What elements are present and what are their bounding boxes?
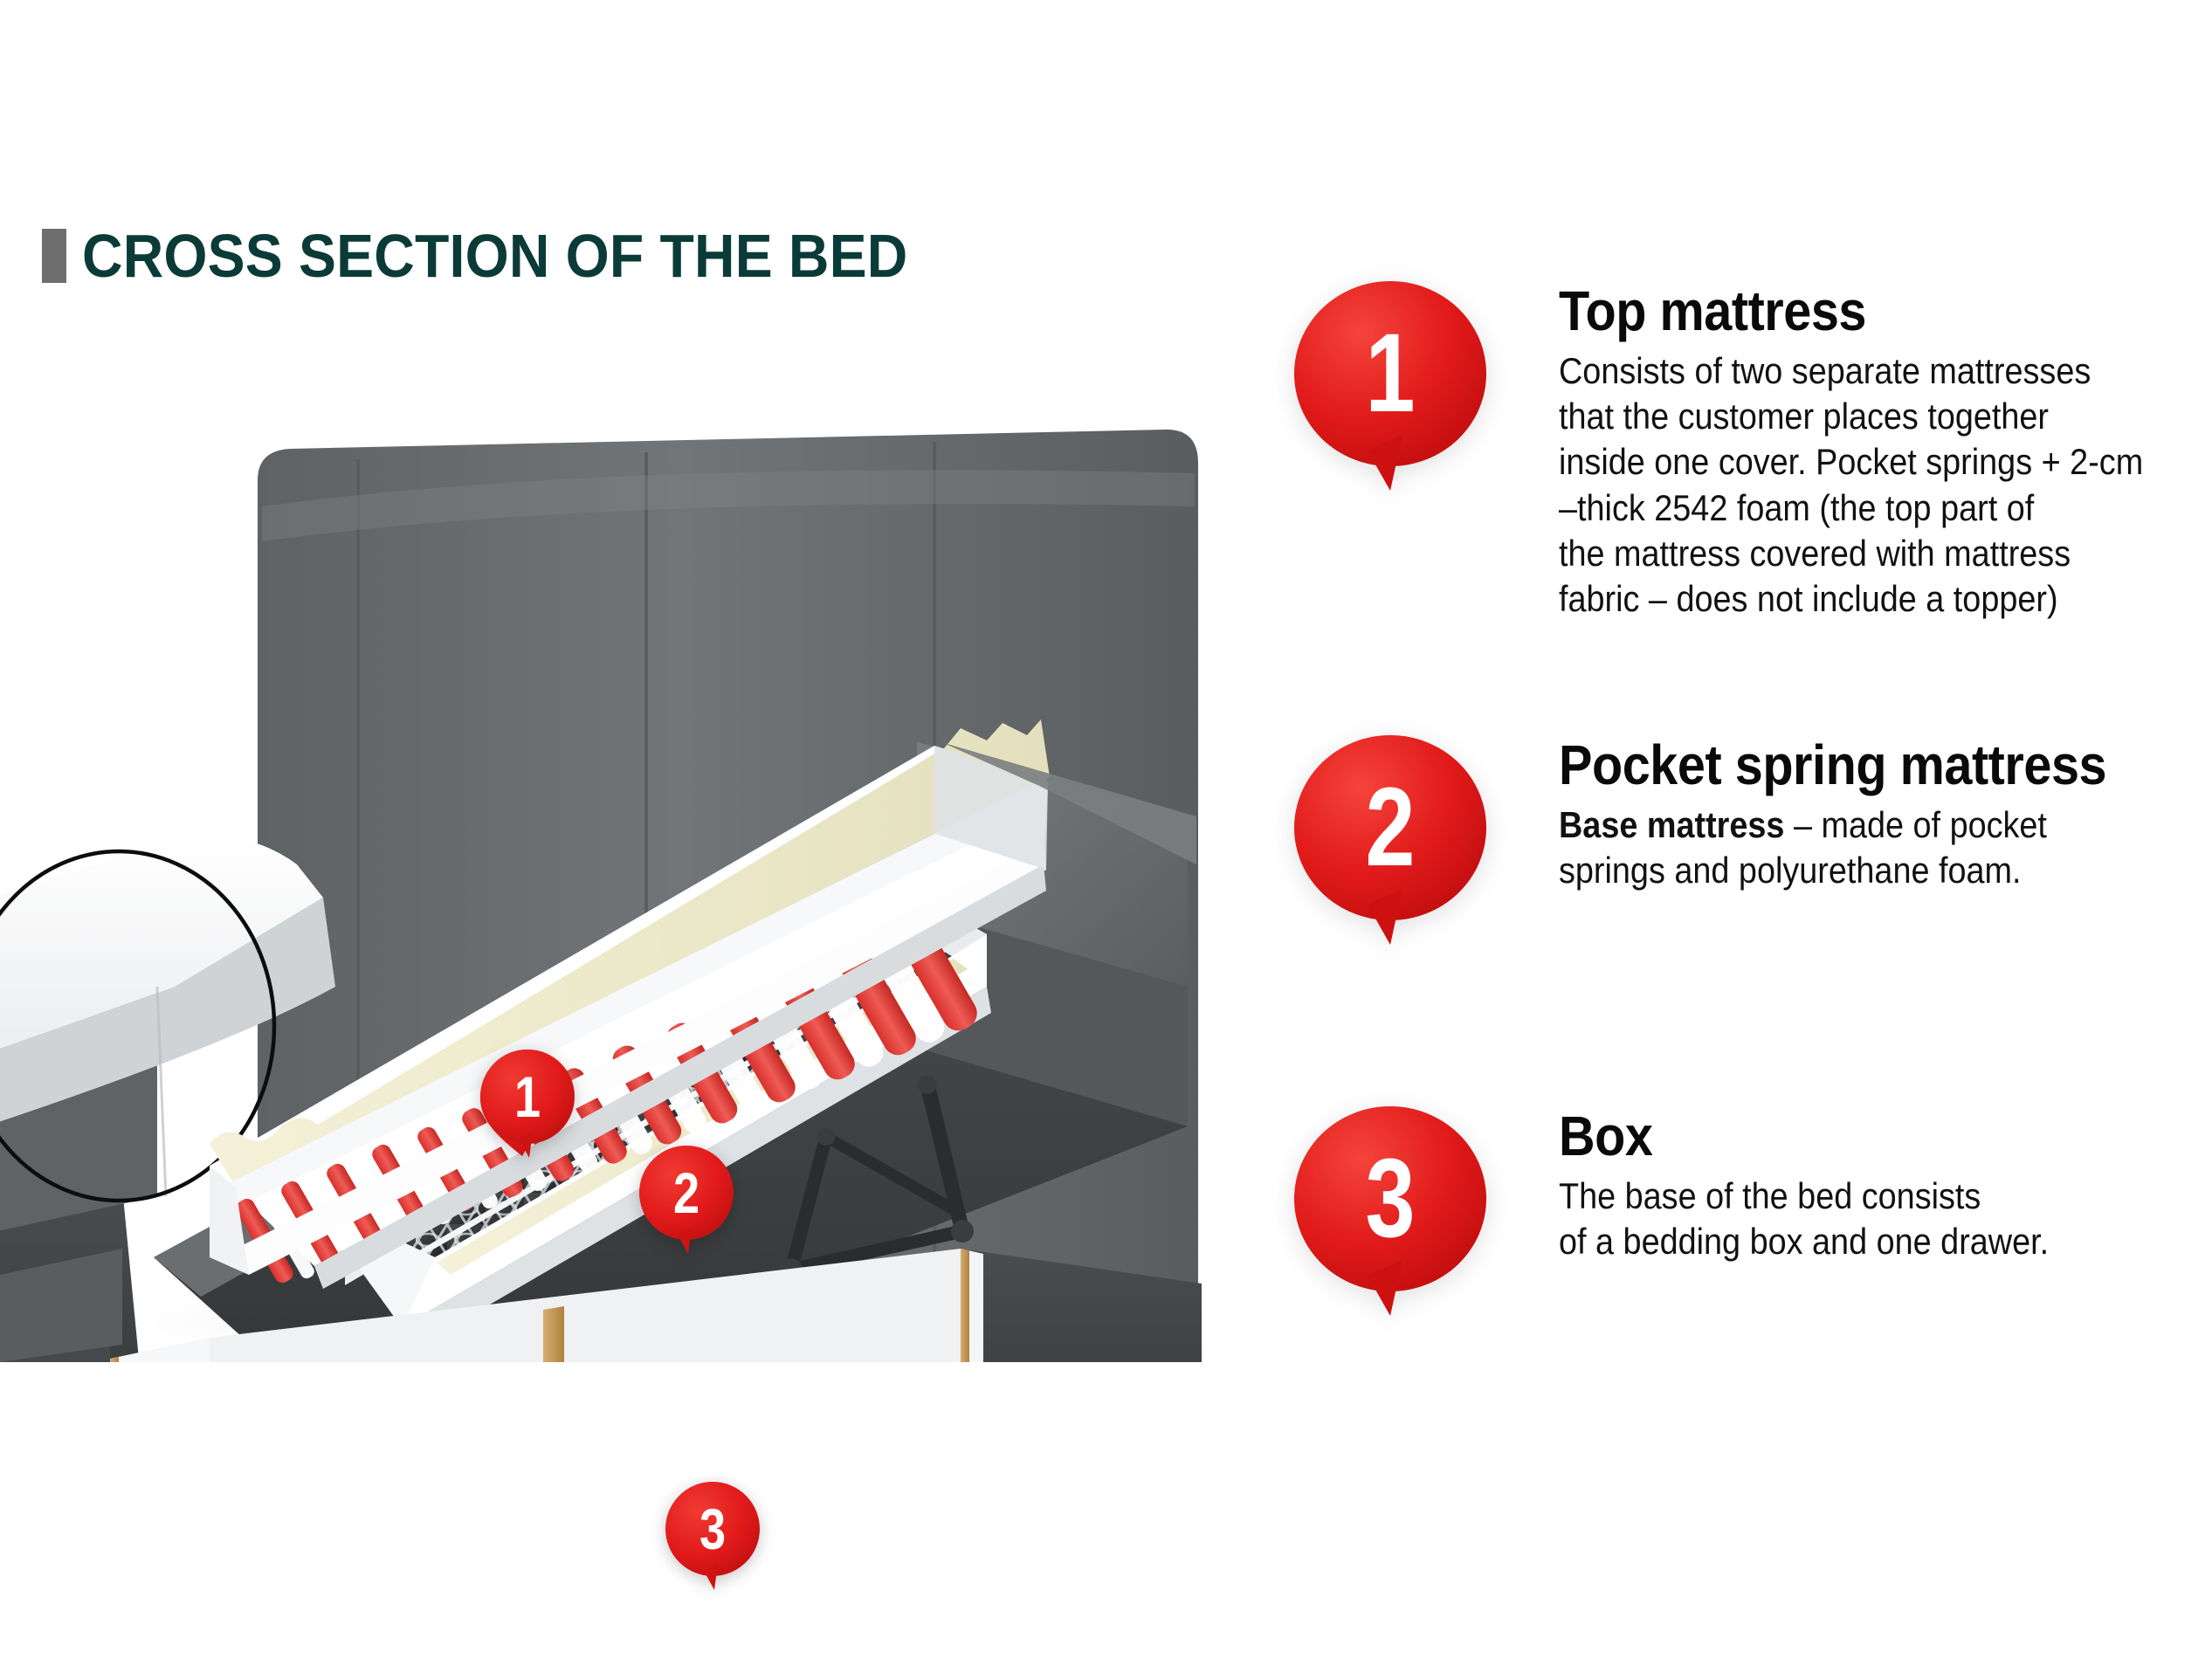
legend-desc-1-line-5: the mattress covered with mattress (1559, 531, 2208, 576)
page-title: CROSS SECTION OF THE BED (42, 225, 980, 286)
legend-heading-1: Top mattress (1559, 283, 2143, 340)
legend-desc-1-line-4: –thick 2542 foam (the top part of (1559, 485, 2208, 531)
legend-desc-1-line-3: inside one cover. Pocket springs + 2-cm (1559, 439, 2208, 485)
legend-description-1: Consists of two separate mattresses that… (1559, 348, 2208, 621)
legend-description-3: The base of the bed consists of a beddin… (1559, 1174, 2103, 1264)
box-wood-edge-right (961, 1249, 969, 1362)
box-divider-post (543, 1306, 564, 1362)
legend-item-pocket-spring-mattress[interactable]: 2 Pocket spring mattress Base mattress –… (1292, 733, 2167, 893)
bed-callout-pin-3-number: 3 (672, 1480, 753, 1578)
legend-desc-2-line-2: springs and polyurethane foam. (1559, 848, 2167, 893)
title-text: CROSS SECTION OF THE BED (82, 225, 907, 286)
legend-item-box[interactable]: 3 Box The base of the bed consists of a … (1292, 1105, 2103, 1264)
bed-callout-pin-2[interactable]: 2 (637, 1144, 735, 1256)
legend-desc-1-line-2: that the customer places together (1559, 394, 2208, 439)
title-accent-bar (42, 229, 66, 283)
legend-desc-2-bold-lead: Base mattress (1559, 804, 1784, 845)
legend-pin-3[interactable] (1292, 1105, 1488, 1318)
bed-callout-pin-2-number: 2 (646, 1144, 727, 1242)
legend-desc-3-line-2: of a bedding box and one drawer. (1559, 1219, 2103, 1264)
bed-illustration: 1 2 3 (0, 375, 1258, 1362)
legend-item-top-mattress[interactable]: 1 Top mattress Consists of two separate … (1292, 279, 2209, 622)
legend-heading-3: Box (1559, 1108, 2049, 1165)
legend-pin-1[interactable] (1292, 279, 1488, 492)
legend-heading-2: Pocket spring mattress (1559, 737, 2106, 794)
bed-callout-pin-3[interactable]: 3 (664, 1480, 761, 1592)
bed-callout-pin-1[interactable]: 1 (479, 1048, 576, 1160)
legend-desc-1-line-1: Consists of two separate mattresses (1559, 348, 2208, 394)
infographic-stage: CROSS SECTION OF THE BED (0, 0, 2212, 1659)
legend-description-2: Base mattress – made of pocket springs a… (1559, 802, 2167, 893)
legend-pin-2[interactable] (1292, 733, 1488, 947)
bed-callout-pin-1-number: 1 (487, 1048, 568, 1146)
legend-desc-2-line-1: – made of pocket (1784, 804, 2046, 845)
legend-desc-3-line-1: The base of the bed consists (1559, 1174, 2103, 1219)
legend-desc-1-line-6: fabric – does not include a topper) (1559, 576, 2208, 622)
